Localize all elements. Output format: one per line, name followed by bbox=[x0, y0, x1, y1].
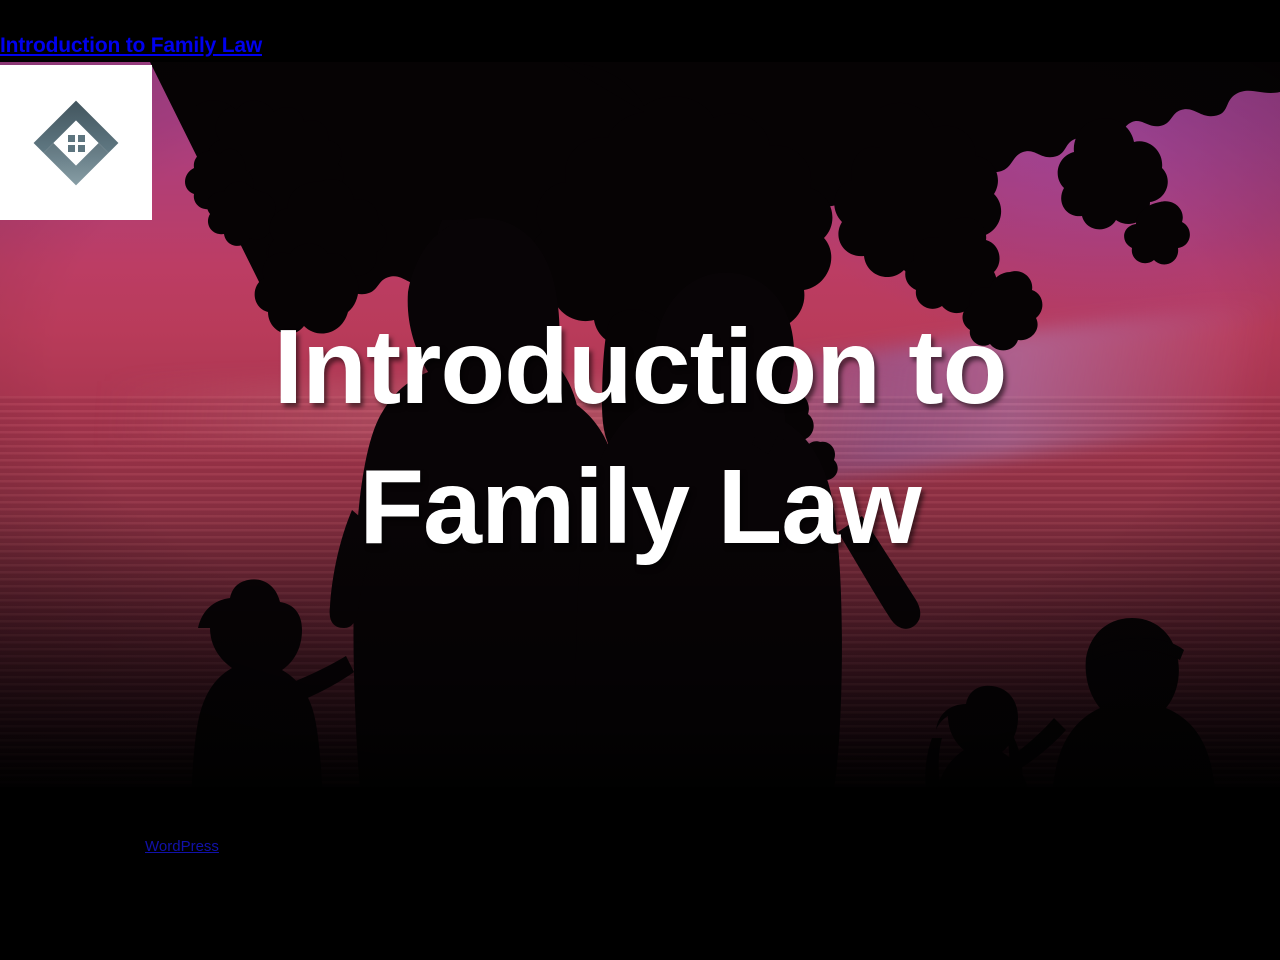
site-title-link[interactable]: Introduction to Family Law bbox=[0, 34, 262, 57]
diamond-house-logo-icon bbox=[30, 97, 122, 189]
top-bar: Introduction to Family Law bbox=[0, 0, 1280, 62]
page-title-line-2: Family Law bbox=[359, 448, 920, 566]
page-title-line-1: Introduction to bbox=[274, 308, 1007, 426]
wordpress-link[interactable]: WordPress bbox=[145, 838, 219, 855]
hero-banner: Introduction to Family Law bbox=[0, 62, 1280, 787]
footer-credit: WordPress bbox=[145, 838, 219, 856]
site-logo[interactable] bbox=[0, 65, 152, 220]
page-title: Introduction to Family Law bbox=[0, 298, 1280, 578]
site-footer bbox=[0, 787, 1280, 960]
